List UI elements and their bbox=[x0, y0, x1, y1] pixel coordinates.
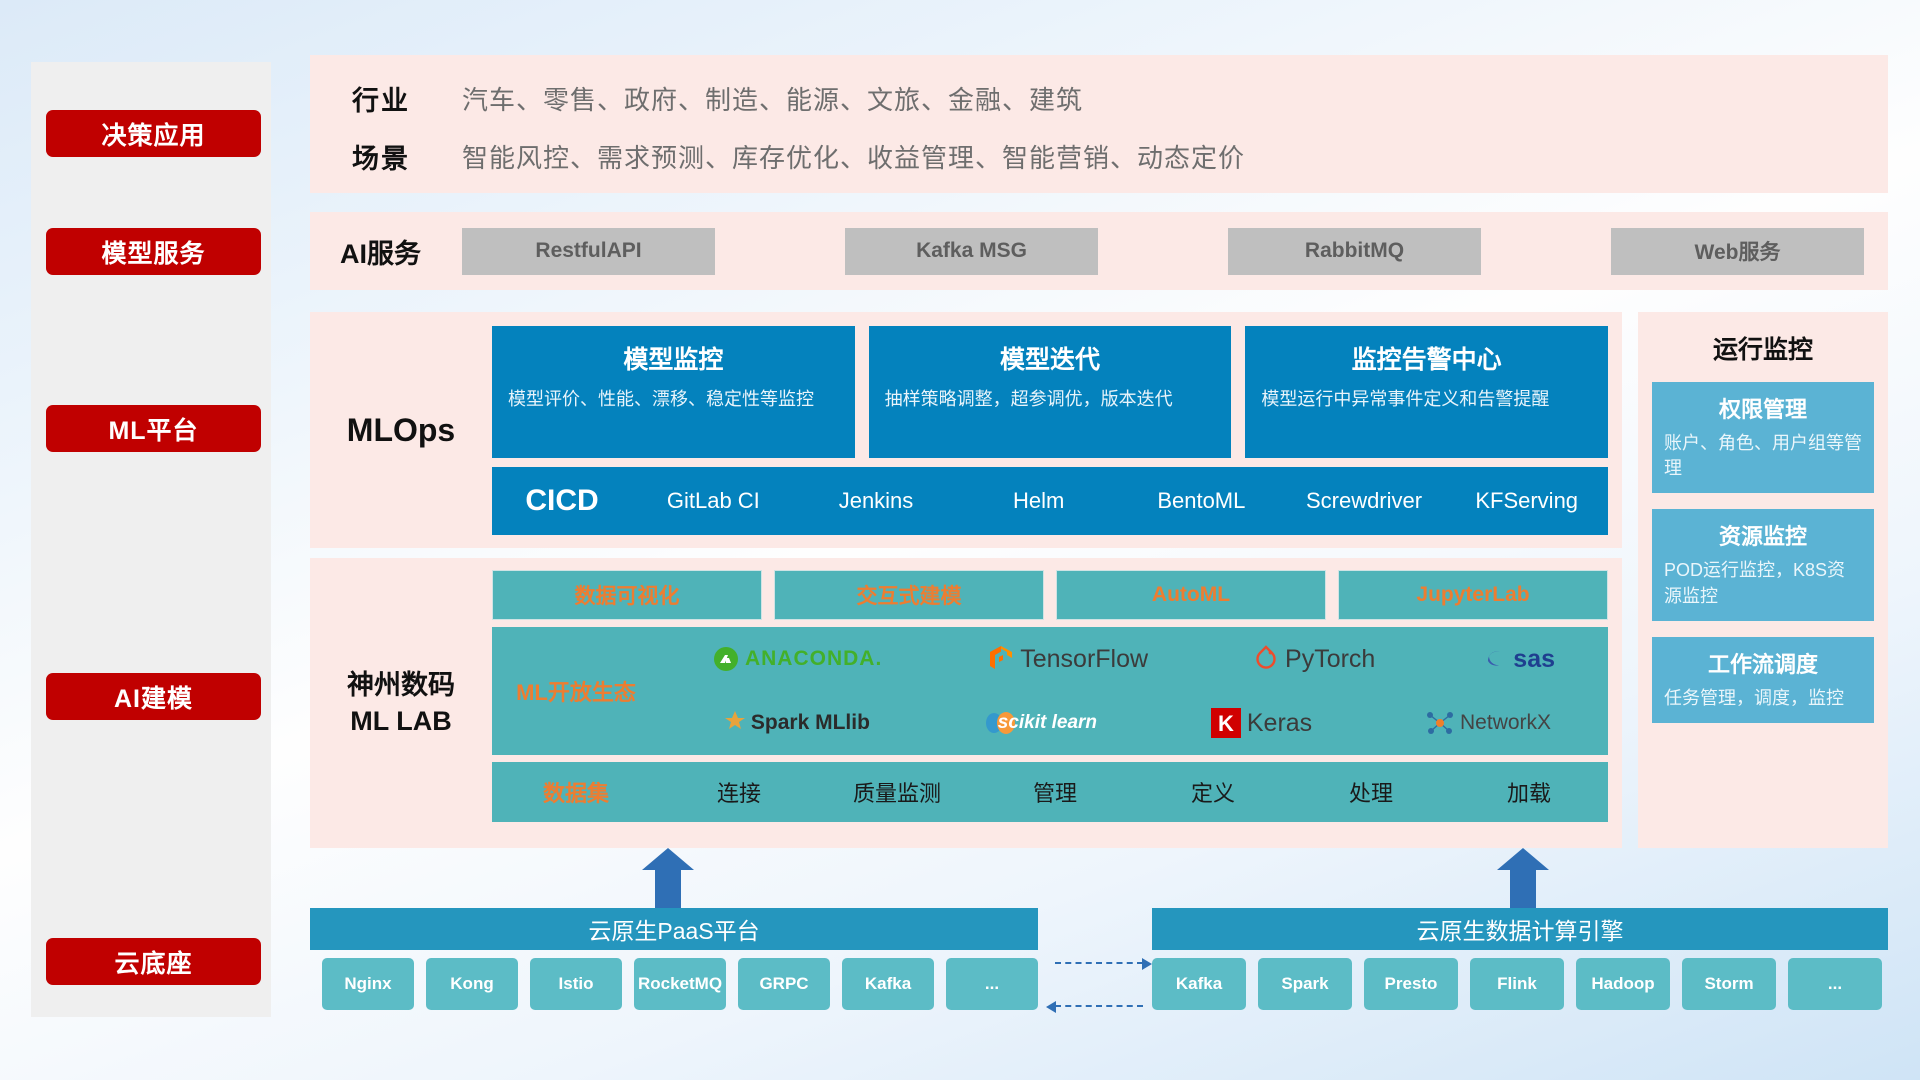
stage-ai-modeling[interactable]: AI建模 bbox=[46, 673, 261, 720]
ecosystem-label: ML开放生态 bbox=[492, 627, 660, 755]
service-restful-api[interactable]: RestfulAPI bbox=[462, 228, 715, 275]
card-title: 工作流调度 bbox=[1664, 647, 1862, 679]
scikit-learn-logo-text: scikit learn bbox=[998, 712, 1097, 734]
anaconda-logo: ANACONDA. bbox=[713, 646, 882, 672]
keras-logo-text: Keras bbox=[1247, 709, 1312, 738]
stage-cloud-base[interactable]: 云底座 bbox=[46, 938, 261, 985]
card-desc: 模型评价、性能、漂移、稳定性等监控 bbox=[508, 386, 839, 412]
ml-lab-band: 神州数码 ML LAB 数据可视化 交互式建模 AutoML JupyterLa… bbox=[310, 558, 1622, 848]
tensorflow-logo: TensorFlow bbox=[988, 645, 1148, 674]
ml-open-ecosystem: ML开放生态 ANACONDA. bbox=[492, 627, 1608, 755]
svg-text:K: K bbox=[1218, 711, 1234, 736]
stage-label: ML平台 bbox=[108, 411, 198, 447]
pytorch-logo: PyTorch bbox=[1254, 645, 1375, 674]
tensorflow-icon bbox=[988, 645, 1014, 673]
chip-kong[interactable]: Kong bbox=[426, 958, 518, 1010]
spark-mllib-logo: Spark MLlib bbox=[717, 710, 870, 736]
ml-lab-tool-row: 数据可视化 交互式建模 AutoML JupyterLab bbox=[492, 570, 1608, 620]
dash-arrow-left bbox=[1055, 1005, 1143, 1007]
cloud-paas-bar[interactable]: 云原生PaaS平台 bbox=[310, 908, 1038, 950]
cicd-label: CICD bbox=[492, 484, 632, 518]
chip-more-right[interactable]: ... bbox=[1788, 958, 1882, 1010]
networkx-logo-text: NetworkX bbox=[1460, 711, 1551, 735]
scikit-learn-logo: scikit learn bbox=[984, 709, 1097, 737]
scenario-values: 智能风控、需求预测、库存优化、收益管理、智能营销、动态定价 bbox=[462, 138, 1245, 175]
tool-jupyterlab[interactable]: JupyterLab bbox=[1338, 570, 1608, 620]
anaconda-icon bbox=[713, 646, 739, 672]
dataset-item-define[interactable]: 定义 bbox=[1134, 776, 1292, 808]
card-desc: 任务管理，调度，监控 bbox=[1664, 686, 1862, 711]
mlops-card-model-iteration[interactable]: 模型迭代 抽样策略调整，超参调优，版本迭代 bbox=[869, 326, 1232, 458]
chip-spark[interactable]: Spark bbox=[1258, 958, 1352, 1010]
chip-grpc[interactable]: GRPC bbox=[738, 958, 830, 1010]
stage-label: 模型服务 bbox=[101, 234, 205, 270]
anaconda-logo-text: ANACONDA. bbox=[745, 647, 882, 671]
cicd-item-jenkins[interactable]: Jenkins bbox=[795, 487, 958, 515]
chip-kafka[interactable]: Kafka bbox=[842, 958, 934, 1010]
chip-flink[interactable]: Flink bbox=[1470, 958, 1564, 1010]
runtime-monitor-title: 运行监控 bbox=[1652, 330, 1874, 366]
industry-scenario-band: 行业 汽车、零售、政府、制造、能源、文旅、金融、建筑 场景 智能风控、需求预测、… bbox=[310, 55, 1888, 193]
tool-data-visualization[interactable]: 数据可视化 bbox=[492, 570, 762, 620]
chip-istio[interactable]: Istio bbox=[530, 958, 622, 1010]
networkx-logo: NetworkX bbox=[1426, 710, 1551, 736]
dataset-label: 数据集 bbox=[492, 776, 660, 808]
cicd-item-helm[interactable]: Helm bbox=[957, 487, 1120, 515]
keras-icon: K bbox=[1211, 708, 1241, 738]
card-desc: POD运行监控，K8S资源监控 bbox=[1664, 558, 1862, 608]
mlops-card-model-monitor[interactable]: 模型监控 模型评价、性能、漂移、稳定性等监控 bbox=[492, 326, 855, 458]
ecosystem-logo-row-2: Spark MLlib scikit learn bbox=[660, 691, 1608, 755]
dataset-item-quality-monitor[interactable]: 质量监测 bbox=[818, 776, 976, 808]
industry-row: 行业 汽车、零售、政府、制造、能源、文旅、金融、建筑 bbox=[310, 69, 1888, 127]
spark-icon bbox=[717, 710, 745, 736]
cicd-item-bentoml[interactable]: BentoML bbox=[1120, 487, 1283, 515]
cicd-item-gitlab-ci[interactable]: GitLab CI bbox=[632, 487, 795, 515]
ai-service-items: RestfulAPI Kafka MSG RabbitMQ Web服务 bbox=[462, 228, 1888, 275]
data-engine-component-chips: Kafka Spark Presto Flink Hadoop Storm ..… bbox=[1152, 958, 1882, 1010]
stage-label: 云底座 bbox=[114, 944, 192, 980]
ml-lab-content: 数据可视化 交互式建模 AutoML JupyterLab ML开放生态 bbox=[492, 558, 1622, 848]
card-title: 模型监控 bbox=[508, 340, 839, 376]
sas-logo-text: sas bbox=[1513, 645, 1555, 674]
card-title: 资源监控 bbox=[1664, 519, 1862, 551]
scenario-label: 场景 bbox=[310, 137, 462, 176]
cicd-item-screwdriver[interactable]: Screwdriver bbox=[1283, 487, 1446, 515]
dataset-items: 连接 质量监测 管理 定义 处理 加载 bbox=[660, 776, 1608, 808]
cicd-item-kfserving[interactable]: KFServing bbox=[1445, 487, 1608, 515]
chip-storm[interactable]: Storm bbox=[1682, 958, 1776, 1010]
arrow-up-paas bbox=[655, 868, 681, 908]
ecosystem-logos: ANACONDA. TensorFlow bbox=[660, 627, 1608, 755]
cloud-paas-label: 云原生PaaS平台 bbox=[588, 912, 759, 946]
service-kafka-msg[interactable]: Kafka MSG bbox=[845, 228, 1098, 275]
scenario-row: 场景 智能风控、需求预测、库存优化、收益管理、智能营销、动态定价 bbox=[310, 127, 1888, 185]
paas-component-chips: Nginx Kong Istio RocketMQ GRPC Kafka ... bbox=[322, 958, 1038, 1010]
monitor-card-resource[interactable]: 资源监控 POD运行监控，K8S资源监控 bbox=[1652, 509, 1874, 620]
mlops-card-row: 模型监控 模型评价、性能、漂移、稳定性等监控 模型迭代 抽样策略调整，超参调优，… bbox=[492, 326, 1608, 458]
sas-logo: sas bbox=[1481, 645, 1555, 674]
cicd-row: CICD GitLab CI Jenkins Helm BentoML Scre… bbox=[492, 467, 1608, 535]
service-web[interactable]: Web服务 bbox=[1611, 228, 1864, 275]
stage-decision-app[interactable]: 决策应用 bbox=[46, 110, 261, 157]
chip-rocketmq[interactable]: RocketMQ bbox=[634, 958, 726, 1010]
dataset-item-manage[interactable]: 管理 bbox=[976, 776, 1134, 808]
dataset-item-load[interactable]: 加载 bbox=[1450, 776, 1608, 808]
runtime-monitor-column: 运行监控 权限管理 账户、角色、用户组等管理 资源监控 POD运行监控，K8S资… bbox=[1638, 312, 1888, 848]
service-rabbitmq[interactable]: RabbitMQ bbox=[1228, 228, 1481, 275]
stage-ml-platform[interactable]: ML平台 bbox=[46, 405, 261, 452]
mlops-card-alert-center[interactable]: 监控告警中心 模型运行中异常事件定义和告警提醒 bbox=[1245, 326, 1608, 458]
card-desc: 抽样策略调整，超参调优，版本迭代 bbox=[885, 386, 1216, 412]
keras-logo: K Keras bbox=[1211, 708, 1312, 738]
monitor-card-permission[interactable]: 权限管理 账户、角色、用户组等管理 bbox=[1652, 382, 1874, 493]
ecosystem-logo-row-1: ANACONDA. TensorFlow bbox=[660, 627, 1608, 691]
ai-service-band: AI服务 RestfulAPI Kafka MSG RabbitMQ Web服务 bbox=[310, 212, 1888, 290]
stage-model-service[interactable]: 模型服务 bbox=[46, 228, 261, 275]
industry-values: 汽车、零售、政府、制造、能源、文旅、金融、建筑 bbox=[462, 80, 1083, 117]
card-title: 模型迭代 bbox=[885, 340, 1216, 376]
architecture-diagram: 决策应用 模型服务 ML平台 AI建模 云底座 行业 汽车、零售、政府、制造、能… bbox=[0, 0, 1920, 1080]
cloud-data-engine-label: 云原生数据计算引擎 bbox=[1417, 912, 1624, 946]
mlops-band: MLOps 模型监控 模型评价、性能、漂移、稳定性等监控 模型迭代 抽样策略调整… bbox=[310, 312, 1622, 548]
cicd-items: GitLab CI Jenkins Helm BentoML Screwdriv… bbox=[632, 487, 1608, 515]
sas-icon bbox=[1481, 646, 1507, 672]
ml-lab-label: 神州数码 ML LAB bbox=[310, 558, 492, 848]
tool-interactive-modeling[interactable]: 交互式建模 bbox=[774, 570, 1044, 620]
card-title: 监控告警中心 bbox=[1261, 340, 1592, 376]
chip-kafka-right[interactable]: Kafka bbox=[1152, 958, 1246, 1010]
card-desc: 模型运行中异常事件定义和告警提醒 bbox=[1261, 386, 1592, 412]
chip-hadoop[interactable]: Hadoop bbox=[1576, 958, 1670, 1010]
spark-mllib-logo-text: Spark MLlib bbox=[751, 711, 870, 735]
dash-arrow-right bbox=[1055, 962, 1143, 964]
tool-automl[interactable]: AutoML bbox=[1056, 570, 1326, 620]
chip-presto[interactable]: Presto bbox=[1364, 958, 1458, 1010]
arrow-up-data-engine bbox=[1510, 868, 1536, 908]
pytorch-logo-text: PyTorch bbox=[1285, 645, 1375, 674]
dataset-item-process[interactable]: 处理 bbox=[1292, 776, 1450, 808]
dataset-row: 数据集 连接 质量监测 管理 定义 处理 加载 bbox=[492, 762, 1608, 822]
tensorflow-logo-text: TensorFlow bbox=[1020, 645, 1148, 674]
card-desc: 账户、角色、用户组等管理 bbox=[1664, 431, 1862, 481]
cloud-data-engine-bar[interactable]: 云原生数据计算引擎 bbox=[1152, 908, 1888, 950]
ai-service-label: AI服务 bbox=[310, 232, 462, 271]
monitor-card-workflow[interactable]: 工作流调度 任务管理，调度，监控 bbox=[1652, 637, 1874, 723]
ml-lab-label-line1: 神州数码 bbox=[347, 667, 455, 703]
stage-rail bbox=[31, 62, 271, 1017]
card-title: 权限管理 bbox=[1664, 392, 1862, 424]
chip-nginx[interactable]: Nginx bbox=[322, 958, 414, 1010]
mlops-label: MLOps bbox=[310, 312, 492, 548]
stage-label: AI建模 bbox=[114, 679, 193, 715]
mlops-content: 模型监控 模型评价、性能、漂移、稳定性等监控 模型迭代 抽样策略调整，超参调优，… bbox=[492, 312, 1622, 548]
ml-lab-label-line2: ML LAB bbox=[347, 703, 455, 739]
stage-label: 决策应用 bbox=[101, 116, 205, 152]
pytorch-icon bbox=[1254, 645, 1279, 673]
chip-more-left[interactable]: ... bbox=[946, 958, 1038, 1010]
industry-label: 行业 bbox=[310, 79, 462, 118]
dataset-item-connect[interactable]: 连接 bbox=[660, 776, 818, 808]
networkx-icon bbox=[1426, 710, 1454, 736]
